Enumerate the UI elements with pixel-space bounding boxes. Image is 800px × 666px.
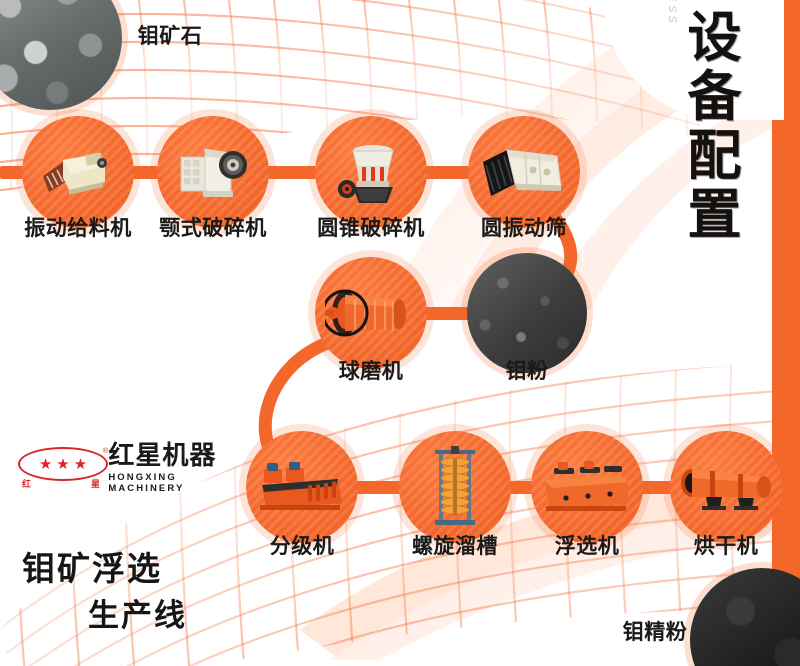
production-line-title-line1: 钼矿浮选: [22, 542, 162, 590]
registered-trademark-icon: ®: [103, 448, 108, 455]
logo-oval-stars: ★ ★ ★ ®: [18, 447, 108, 481]
classifier-icon: [246, 431, 358, 543]
equipment-label-ball-mill: 球磨机: [261, 355, 481, 385]
spiral-chute-icon: [399, 431, 511, 543]
equipment-node-flotation-machine[interactable]: [531, 431, 643, 543]
star-icon: ★: [39, 457, 52, 472]
dryer-icon: [670, 431, 782, 543]
logo-name-en: HONGXING MACHINERY: [108, 472, 248, 494]
page-subtitle-english: TECHNOLOGICAL PROCESS: [666, 0, 678, 26]
equipment-node-ball-mill[interactable]: [315, 257, 427, 369]
flotation-machine-icon: [531, 431, 643, 543]
page-title-vertical: 设 备 配 置: [676, 8, 754, 243]
equipment-node-classifier[interactable]: [246, 431, 358, 543]
material-photo-raw-ore: [0, 0, 122, 110]
ball-mill-icon: [315, 257, 427, 369]
logo-sub-characters: 红 星: [22, 477, 100, 490]
star-icon: ★: [74, 457, 87, 472]
equipment-label-vibrating-screen: 圆振动筛: [414, 212, 634, 242]
equipment-node-dryer[interactable]: [670, 431, 782, 543]
logo-char-hong: 红: [22, 477, 31, 490]
material-label-raw-ore: 钼矿石: [60, 20, 280, 50]
material-label-molybdenum-concentrate: 钼精粉: [545, 616, 765, 646]
infographic-canvas: 设 备 配 置 TECHNOLOGICAL PROCESS 钼矿石钼粉钼精粉 振…: [0, 0, 800, 666]
equipment-label-dryer: 烘干机: [616, 530, 800, 560]
logo-char-xing: 星: [91, 477, 100, 490]
production-line-title-line2: 生产线: [88, 590, 187, 635]
logo-mark: ★ ★ ★ ® 红 星: [18, 445, 100, 491]
logo-wordmark: 红星机器 HONGXING MACHINERY: [108, 443, 248, 494]
logo-name-cn: 红星机器: [108, 443, 248, 469]
star-icon: ★: [56, 457, 69, 472]
equipment-node-spiral-chute[interactable]: [399, 431, 511, 543]
brand-logo[interactable]: ★ ★ ★ ® 红 星 红星机器 HONGXING MACHINERY: [18, 443, 248, 493]
